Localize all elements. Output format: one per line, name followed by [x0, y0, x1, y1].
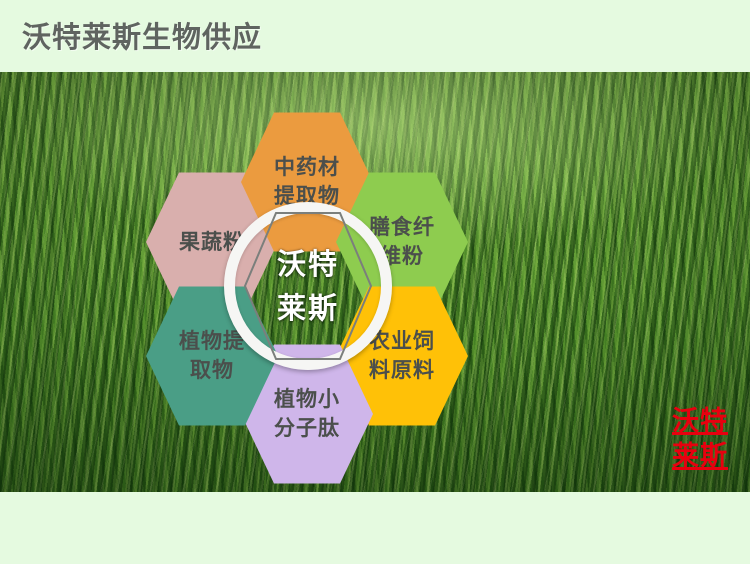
hexagon-cluster: 果蔬粉 中药材 提取物 膳食纤 维粉 农业饲 — [118, 86, 498, 478]
hex-line-1: 植物小 — [263, 385, 351, 414]
hex-line-2: 分子肽 — [263, 414, 351, 443]
background-photo-rice-field: 果蔬粉 中药材 提取物 膳食纤 维粉 农业饲 — [0, 72, 750, 492]
watermark-line-2: 莱斯 — [672, 439, 728, 474]
center-brand-label: 沃特 莱斯 — [277, 242, 339, 330]
brand-watermark: 沃特 莱斯 — [672, 404, 728, 474]
page-header: 沃特莱斯生物供应 — [0, 0, 750, 72]
watermark-line-1: 沃特 — [672, 404, 728, 439]
hex-node-center-brand[interactable]: 沃特 莱斯 — [243, 208, 373, 364]
center-line-2: 莱斯 — [277, 286, 339, 330]
hex-label-plant-small-molecule-peptides: 植物小 分子肽 — [263, 385, 351, 443]
hex-line-1: 中药材 — [263, 153, 351, 182]
page-title: 沃特莱斯生物供应 — [22, 20, 262, 54]
page-footer — [0, 492, 750, 564]
product-banner-page: 沃特莱斯生物供应 果蔬粉 中药材 提取物 — [0, 0, 750, 564]
center-line-1: 沃特 — [277, 242, 339, 286]
